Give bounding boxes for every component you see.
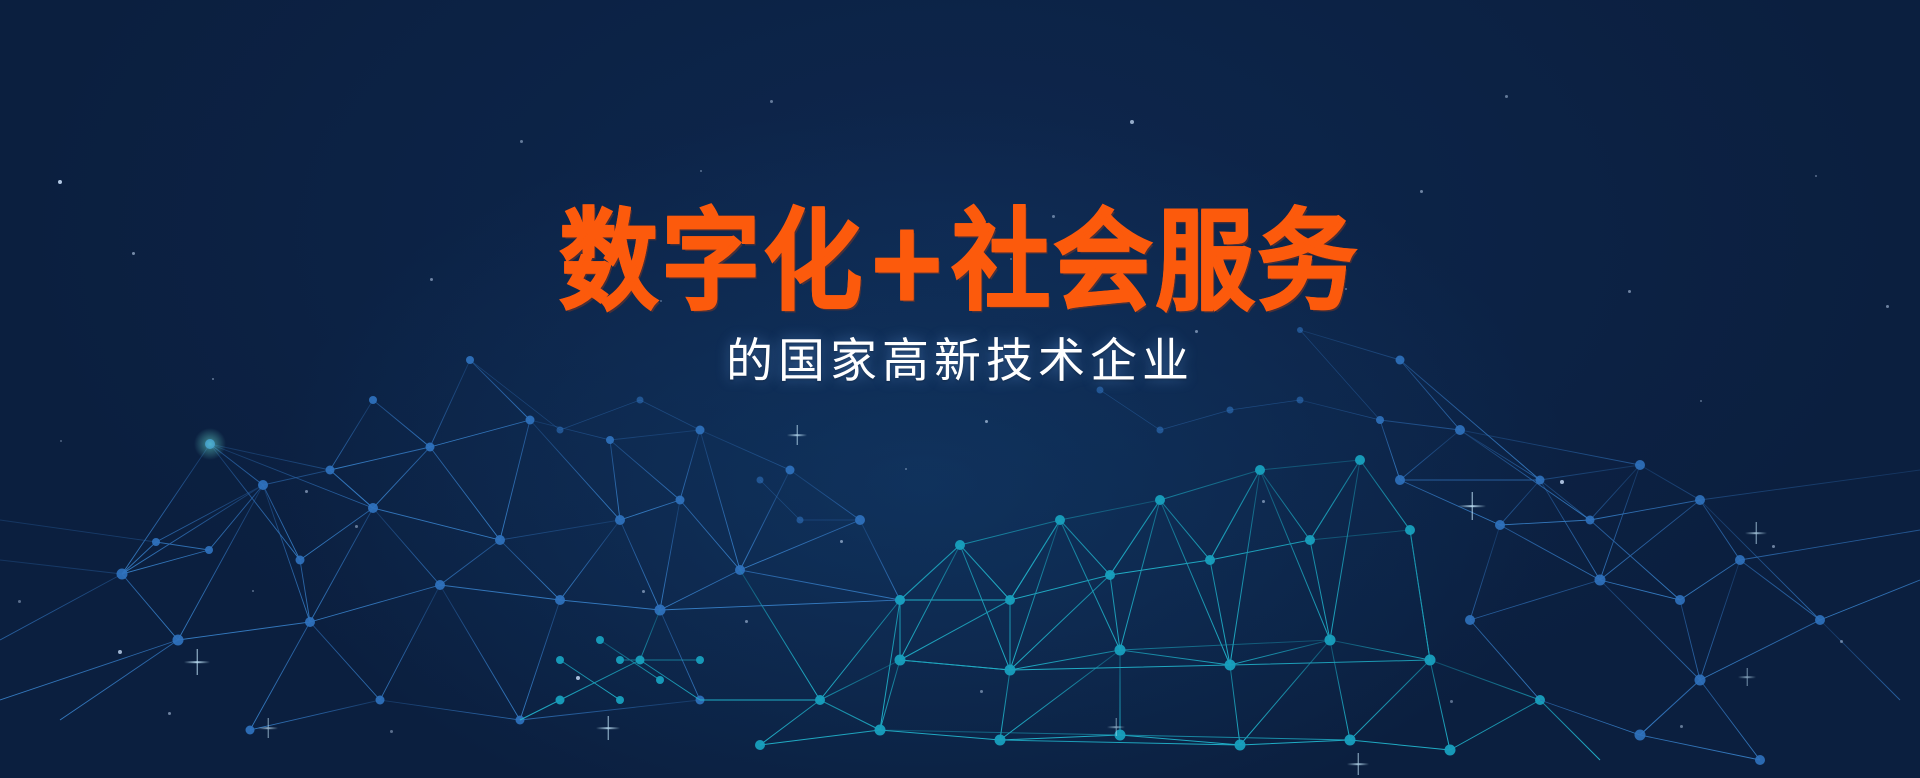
page-title: 数字化+社会服务 xyxy=(0,206,1920,320)
hero-text-block: 数字化+社会服务 的国家高新技术企业 xyxy=(0,206,1920,388)
page-subtitle: 的国家高新技术企业 xyxy=(0,336,1920,388)
hero-banner: 数字化+社会服务 的国家高新技术企业 xyxy=(0,0,1920,778)
network-mesh-graphic xyxy=(0,0,1920,778)
